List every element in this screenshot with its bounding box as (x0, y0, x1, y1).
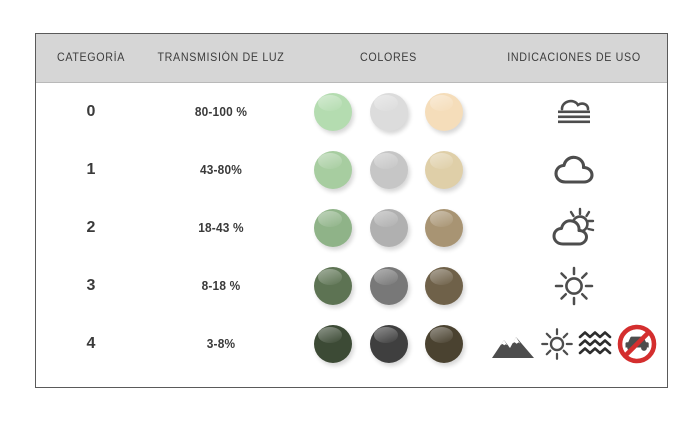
color-swatch-green (314, 151, 352, 189)
fog-icon (552, 94, 596, 130)
color-swatch-brown (425, 325, 463, 363)
screenshot-stage: CATEGORÍA TRANSMISIÓN DE LUZ COLORES IND… (0, 0, 700, 433)
category-value: 2 (36, 219, 146, 237)
table-row: 2 18-43 % (36, 199, 667, 257)
partly-cloudy-icon (550, 206, 598, 250)
color-swatch-group (296, 209, 481, 247)
color-swatch-green (314, 209, 352, 247)
table-row: 4 3-8% (36, 315, 667, 373)
cloud-icon (551, 151, 597, 189)
transmission-value: 8-18 % (150, 279, 293, 293)
sun-icon (539, 326, 575, 362)
transmission-value: 43-80% (150, 163, 293, 177)
color-swatch-gray (370, 93, 408, 131)
category-value: 4 (36, 335, 146, 353)
color-swatch-brown (425, 209, 463, 247)
color-swatch-green (314, 93, 352, 131)
color-swatch-group (296, 267, 481, 305)
column-header-colors: COLORES (302, 52, 474, 64)
column-header-transmission: TRANSMISIÓN DE LUZ (151, 52, 291, 64)
table-body: 0 80-100 % 1 (36, 83, 667, 373)
color-swatch-gray (370, 325, 408, 363)
water-waves-icon (578, 328, 612, 360)
column-header-category: CATEGORÍA (40, 52, 142, 64)
table-row: 3 8-18 % (36, 257, 667, 315)
column-header-usage: INDICACIONES DE USO (488, 52, 661, 64)
transmission-value: 18-43 % (150, 221, 293, 235)
usage-icon-group (481, 322, 667, 366)
category-value: 0 (36, 103, 146, 121)
transmission-value: 3-8% (150, 337, 293, 351)
usage-icon-group (481, 94, 667, 130)
color-swatch-gray (370, 209, 408, 247)
transmission-value: 80-100 % (150, 105, 293, 119)
lens-category-table-card: CATEGORÍA TRANSMISIÓN DE LUZ COLORES IND… (35, 33, 668, 388)
color-swatch-gray (370, 267, 408, 305)
color-swatch-brown (425, 93, 463, 131)
color-swatch-brown (425, 151, 463, 189)
color-swatch-gray (370, 151, 408, 189)
usage-icon-group (481, 206, 667, 250)
usage-icon-group (481, 151, 667, 189)
category-value: 1 (36, 161, 146, 179)
color-swatch-brown (425, 267, 463, 305)
table-header-row: CATEGORÍA TRANSMISIÓN DE LUZ COLORES IND… (36, 34, 667, 83)
color-swatch-green (314, 267, 352, 305)
color-swatch-group (296, 325, 481, 363)
color-swatch-green (314, 325, 352, 363)
color-swatch-group (296, 151, 481, 189)
color-swatch-group (296, 93, 481, 131)
no-driving-icon (615, 322, 659, 366)
mountains-icon (490, 327, 536, 361)
usage-icon-group (481, 264, 667, 308)
sun-icon (552, 264, 596, 308)
category-value: 3 (36, 277, 146, 295)
table-row: 1 43-80% (36, 141, 667, 199)
table-row: 0 80-100 % (36, 83, 667, 141)
